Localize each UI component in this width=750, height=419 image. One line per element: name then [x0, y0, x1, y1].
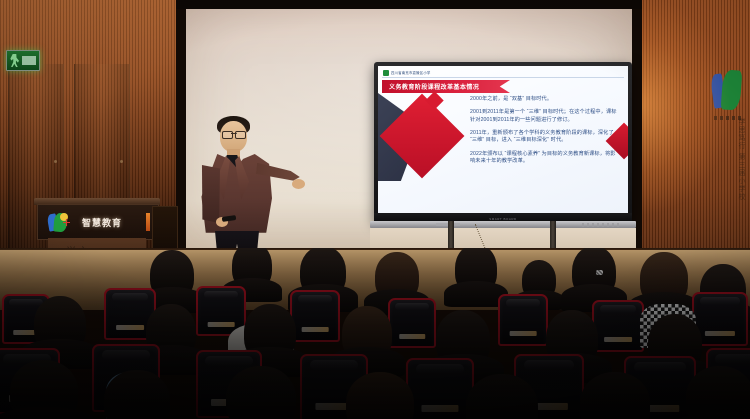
slide-header-rule	[382, 77, 624, 78]
presenter	[186, 113, 304, 261]
slide-logo-text: 四川省南充市嘉陵区小学	[391, 70, 431, 75]
exit-sign	[6, 50, 40, 71]
slide-paragraph-3: 2011年，重新颁布了各个学科的义务教育阶段的课标，深化了 “三维” 目标，进入…	[470, 130, 620, 144]
slide-logo-mark-icon	[383, 70, 389, 76]
presenter-hand-right	[292, 179, 305, 189]
podium-accent-stripe	[146, 213, 150, 231]
logo-blue-shape	[710, 73, 727, 108]
display-brand-text: SMART BOARD	[489, 217, 516, 221]
slide-title-text: 义务教育阶段课程改革基本情况	[389, 82, 479, 91]
display-bezel: 四川省南充市嘉陵区小学 义务教育阶段课程改革基本情况 2000年之前，是 “双基…	[374, 62, 632, 222]
slide-paragraph-1: 2000年之前，是 “双基” 目标时代。	[470, 96, 620, 103]
door-knob-icon	[54, 160, 57, 163]
right-wall-banner-text: 学思笃行 第三届小学校	[734, 118, 746, 201]
slide-paragraph-2: 2001到2011年是第一个 “三维” 目标时代；在这个过程中，课标针对2001…	[470, 109, 620, 123]
glasses-icon	[222, 131, 246, 137]
podium-logo-icon	[47, 212, 69, 232]
podium-brand-text: 智慧教育	[82, 216, 122, 229]
display-control-panel[interactable]	[582, 223, 622, 227]
exit-door-icon	[22, 56, 36, 65]
audience-area	[0, 248, 750, 419]
ceiling-band	[176, 0, 642, 9]
lecture-hall-photo: 学思笃行 第三届小学校 智慧教育	[0, 0, 750, 419]
school-logo-icon	[712, 58, 742, 114]
logo-underline	[714, 116, 742, 120]
presentation-slide: 四川省南充市嘉陵区小学 义务教育阶段课程改革基本情况 2000年之前，是 “双基…	[378, 66, 628, 213]
running-person-icon	[10, 54, 19, 67]
slide-paragraph-4: 2022年颁布以 “课程核心素养” 为目标的义务教育新课标，将影响未来十年的教学…	[470, 151, 620, 165]
slide-title-banner: 义务教育阶段课程改革基本情况	[382, 80, 510, 93]
right-wood-wall: 学思笃行 第三届小学校	[628, 0, 750, 252]
presenter-arm-left	[198, 165, 220, 223]
slide-header-logo: 四川省南充市嘉陵区小学	[383, 69, 431, 76]
slide-body-text: 2000年之前，是 “双基” 目标时代。 2001到2011年是第一个 “三维”…	[470, 96, 620, 171]
podium-front-panel: 智慧教育	[37, 204, 159, 240]
door-knob-icon	[120, 160, 123, 163]
logo-green-shape	[721, 69, 743, 110]
display-screen[interactable]: 四川省南充市嘉陵区小学 义务教育阶段课程改革基本情况 2000年之前，是 “双基…	[378, 66, 628, 213]
display-unit: 四川省南充市嘉陵区小学 义务教育阶段课程改革基本情况 2000年之前，是 “双基…	[374, 62, 632, 257]
audience-shading	[0, 248, 750, 419]
